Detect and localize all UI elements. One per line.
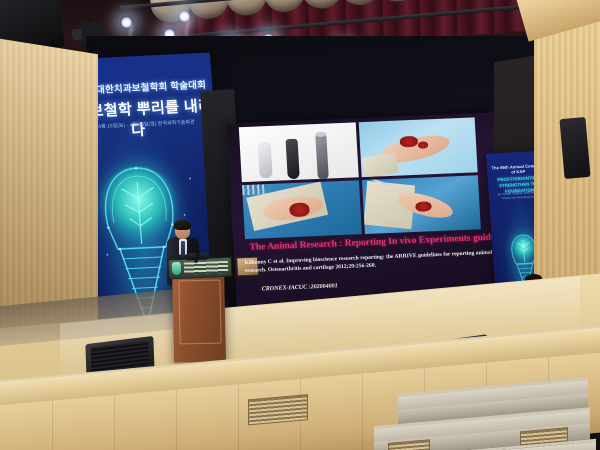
slide-photo	[239, 122, 358, 181]
slide-photo	[358, 117, 477, 176]
conference-stage-photo: 제89회 대한치과보철학회 학술대회 치과보철학 뿌리를 내리다 2023년 4…	[0, 0, 600, 450]
podium-sign-text	[184, 261, 228, 275]
presenter-hair	[174, 220, 191, 230]
wall-speaker-right	[559, 117, 590, 179]
slide-photo	[242, 180, 361, 239]
wooden-podium	[172, 265, 226, 362]
podium-sign	[168, 257, 233, 280]
stage-air-vent	[248, 394, 308, 425]
slide-photo	[361, 175, 480, 234]
presenter-tie	[181, 241, 185, 258]
slide-photo-grid	[239, 117, 481, 239]
slide-citation-text: Kilkenny C et al. Improving bioscience r…	[244, 248, 499, 275]
podium-logo-icon	[172, 262, 182, 275]
